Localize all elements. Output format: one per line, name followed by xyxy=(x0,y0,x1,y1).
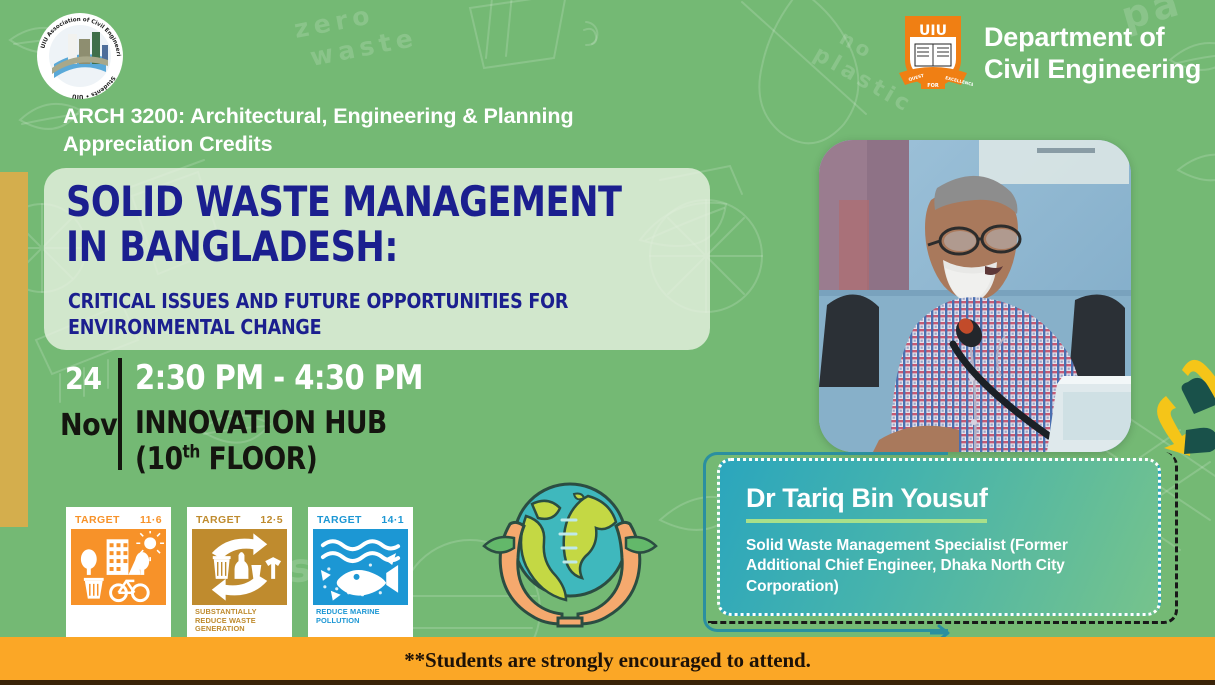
svg-text:waste: waste xyxy=(308,23,420,72)
department-line-1: Department of xyxy=(984,22,1201,54)
sdg-label: TARGET xyxy=(317,514,362,526)
event-time: 2:30 PM - 4:30 PM xyxy=(135,358,423,398)
association-logo: UIU Association of Civil Engineering Stu… xyxy=(36,12,124,100)
sdg-number: 11·6 xyxy=(140,514,162,526)
venue-line-1: INNOVATION HUB xyxy=(135,406,458,442)
event-venue: INNOVATION HUB (10th FLOOR) xyxy=(135,406,458,478)
speaker-info-card: Dr Tariq Bin Yousuf Solid Waste Manageme… xyxy=(717,458,1161,616)
event-details: 24 Nov 2:30 PM - 4:30 PM INNOVATION HUB … xyxy=(60,358,480,488)
sdg-head-12-5: TARGET 12·5 xyxy=(192,512,287,529)
university-logo: UIU FOR QUEST EXCELLENCE xyxy=(893,10,973,95)
speaker-photo xyxy=(819,140,1131,452)
svg-text:FOR: FOR xyxy=(927,83,939,89)
venue-line-2: (10th FLOOR) xyxy=(135,442,458,478)
sdg-head-11-6: TARGET 11·6 xyxy=(71,512,166,529)
event-day: 24 xyxy=(65,362,102,397)
footer-bottom-strip xyxy=(0,680,1215,685)
sdg-label: TARGET xyxy=(75,514,120,526)
sdg-caption-14-1: REDUCE MARINE POLLUTION xyxy=(313,605,408,627)
speaker-role: Solid Waste Management Specialist (Forme… xyxy=(746,536,1146,597)
page-title: SOLID WASTE MANAGEMENT IN BANGLADESH: xyxy=(66,180,643,270)
sdg-label: TARGET xyxy=(196,514,241,526)
department-line-2: Civil Engineering xyxy=(984,54,1201,86)
event-poster: zero waste no plastic lass pa UIU Associ… xyxy=(0,0,1215,685)
sdg-caption-11-6 xyxy=(71,605,166,610)
recycle-waste-icon xyxy=(192,529,287,605)
footer-bar: **Students are strongly encouraged to at… xyxy=(0,637,1215,685)
footer-note: **Students are strongly encouraged to at… xyxy=(404,648,811,673)
sustainable-cities-icon xyxy=(71,529,166,605)
sdg-card-11-6: TARGET 11·6 xyxy=(66,507,171,641)
details-divider xyxy=(118,358,122,470)
left-accent-slab xyxy=(0,172,28,527)
svg-text:zero: zero xyxy=(292,0,377,44)
sdg-card-12-5: TARGET 12·5 SUBSTANTI xyxy=(187,507,292,641)
page-subtitle: CRITICAL ISSUES AND FUTURE OPPORTUNITIES… xyxy=(68,288,695,340)
marine-life-icon xyxy=(313,529,408,605)
speaker-name: Dr Tariq Bin Yousuf xyxy=(746,483,987,523)
venue-floor-ordinal: th xyxy=(183,442,200,463)
event-month: Nov xyxy=(60,408,117,443)
department-title: Department of Civil Engineering xyxy=(984,22,1201,86)
globe-in-hands-icon xyxy=(470,472,670,637)
sdg-card-14-1: TARGET 14·1 xyxy=(308,507,413,641)
recycle-icon xyxy=(1152,352,1215,464)
sdg-head-14-1: TARGET 14·1 xyxy=(313,512,408,529)
sdg-target-row: TARGET 11·6 xyxy=(66,507,413,641)
sdg-caption-12-5: SUBSTANTIALLY REDUCE WASTE GENERATION xyxy=(192,605,287,636)
sdg-number: 14·1 xyxy=(381,514,404,526)
sdg-number: 12·5 xyxy=(260,514,283,526)
venue-floor-prefix: (10 xyxy=(135,441,183,477)
venue-floor-suffix: FLOOR) xyxy=(200,441,317,477)
svg-text:UIU: UIU xyxy=(919,23,947,39)
svg-text:no: no xyxy=(836,26,879,65)
course-code-line: ARCH 3200: Architectural, Engineering & … xyxy=(63,102,623,159)
